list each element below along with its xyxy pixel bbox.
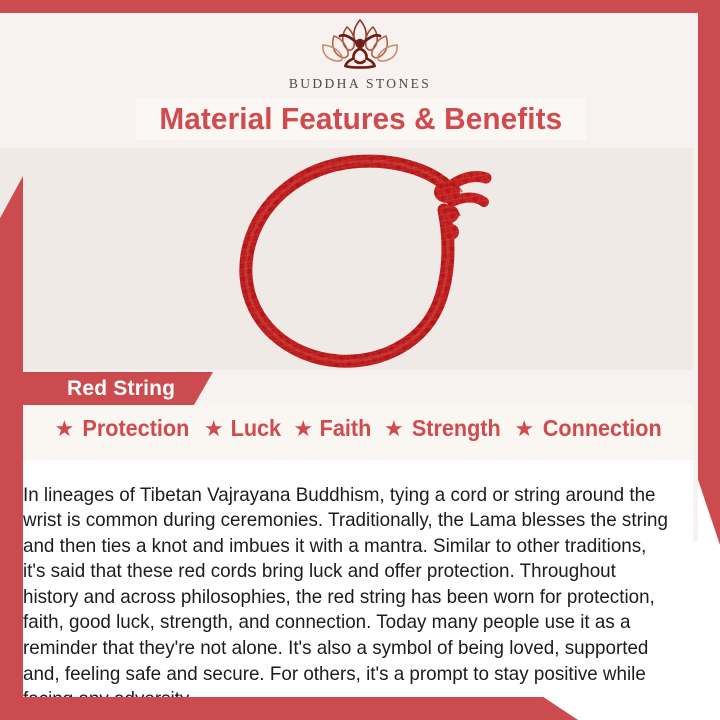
feature-label: Faith	[320, 415, 372, 442]
description-section: In lineages of Tibetan Vajrayana Buddhis…	[0, 460, 720, 720]
features-row: ★ Protection ★ Luck ★ Faith ★ Strength ★…	[0, 415, 720, 442]
frame-right-bar	[698, 0, 720, 545]
star-icon: ★	[384, 418, 404, 440]
lotus-meditation-icon	[306, 16, 414, 74]
product-name-label: Red String	[67, 377, 175, 401]
feature-item-connection: ★ Connection	[514, 415, 665, 442]
brand-name: BUDDHA STONES	[289, 76, 431, 92]
brand-logo: BUDDHA STONES	[0, 16, 720, 92]
feature-label: Connection	[543, 415, 662, 442]
product-name-banner: Red String	[23, 372, 213, 405]
feature-label: Strength	[412, 415, 501, 442]
features-section: ★ Protection ★ Luck ★ Faith ★ Strength ★…	[0, 405, 720, 460]
star-icon: ★	[514, 418, 534, 440]
star-icon: ★	[54, 418, 74, 440]
feature-item-luck: ★ Luck	[204, 415, 282, 442]
feature-item-faith: ★ Faith	[293, 415, 373, 442]
feature-item-protection: ★ Protection	[54, 415, 192, 442]
page-title: Material Features & Benefits	[160, 101, 563, 137]
red-string-bracelet-image	[220, 144, 500, 374]
product-image-section	[0, 148, 720, 370]
material-features-poster: BUDDHA STONES Material Features & Benefi…	[0, 0, 720, 720]
frame-right-gap	[693, 13, 698, 541]
frame-left-bar	[0, 176, 23, 704]
star-icon: ★	[293, 418, 313, 440]
feature-label: Luck	[230, 415, 280, 442]
feature-item-strength: ★ Strength	[384, 415, 503, 442]
description-text: In lineages of Tibetan Vajrayana Buddhis…	[23, 483, 670, 713]
frame-bottom-bar	[0, 697, 578, 720]
frame-top-bar	[0, 0, 720, 13]
star-icon: ★	[204, 418, 224, 440]
feature-label: Protection	[83, 415, 190, 442]
page-title-bar: Material Features & Benefits	[136, 98, 586, 140]
